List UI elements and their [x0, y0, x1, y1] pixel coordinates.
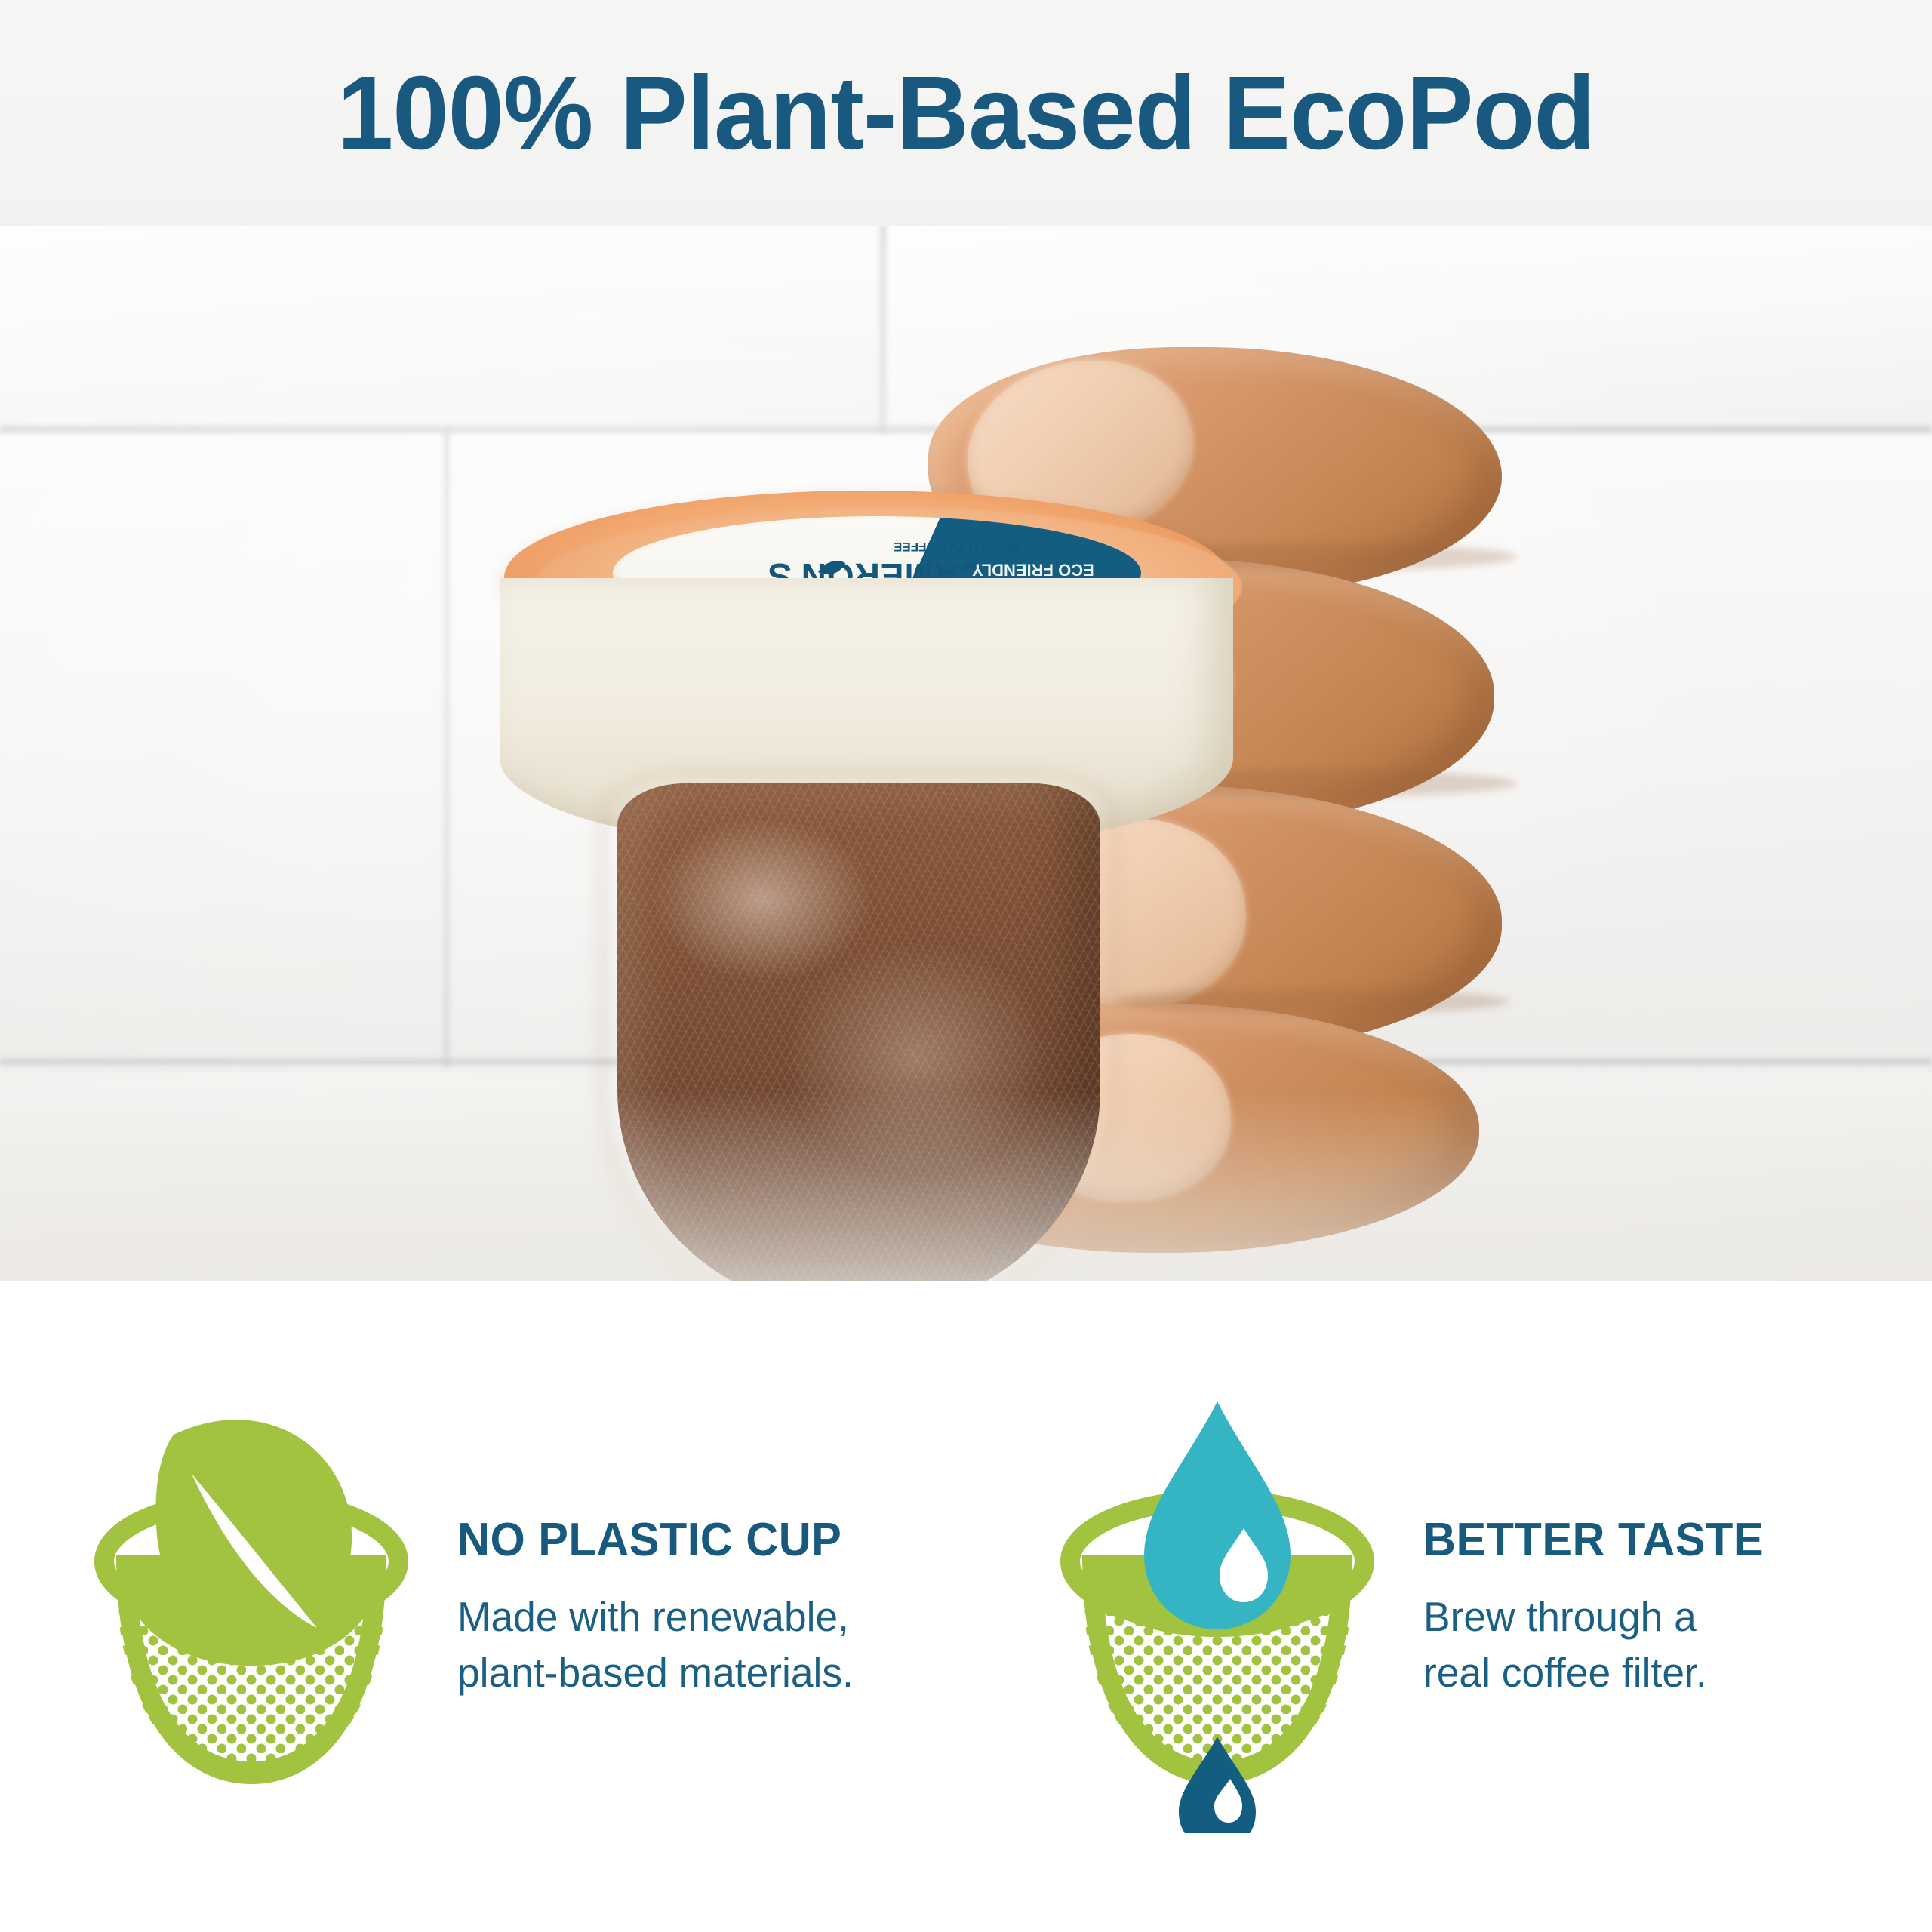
feature-description: Brew through a real coffee filter. — [1423, 1589, 1767, 1700]
feature-better-taste: BETTER TASTE Brew through a real coffee … — [966, 1380, 1932, 1833]
filter-fiber-halo — [607, 777, 1111, 1281]
pod-band-text: ECO FRIENDLY — [972, 560, 1094, 579]
feature-no-plastic-cup: NO PLASTIC CUP Made with renewable, plan… — [0, 1380, 966, 1833]
pod-brand-subtext: SPECIALTY COFFEE — [894, 539, 1020, 554]
feature-text-block: NO PLASTIC CUP Made with renewable, plan… — [457, 1512, 866, 1700]
water-drop-in-filter-basket-icon — [1055, 1380, 1380, 1833]
product-feature-poster: 100% Plant-Based EcoPod — [0, 0, 1932, 1932]
page-title: 100% Plant-Based EcoPod — [337, 61, 1595, 165]
product-photo: CAMERON'S SPECIALTY COFFEE ECO FRIENDLY — [0, 226, 1932, 1281]
feature-row: NO PLASTIC CUP Made with renewable, plan… — [0, 1281, 1932, 1932]
feature-title: BETTER TASTE — [1423, 1517, 1764, 1564]
coffee-pod: CAMERON'S SPECIALTY COFFEE ECO FRIENDLY — [483, 483, 1283, 1281]
feature-description: Made with renewable, plant-based materia… — [457, 1589, 854, 1700]
leaf-in-filter-basket-icon — [89, 1380, 414, 1833]
feature-title: NO PLASTIC CUP — [457, 1517, 849, 1564]
pod-filter-basket — [617, 783, 1100, 1281]
feature-text-block: BETTER TASTE Brew through a real coffee … — [1423, 1512, 1778, 1700]
header-banner: 100% Plant-Based EcoPod — [0, 0, 1932, 226]
